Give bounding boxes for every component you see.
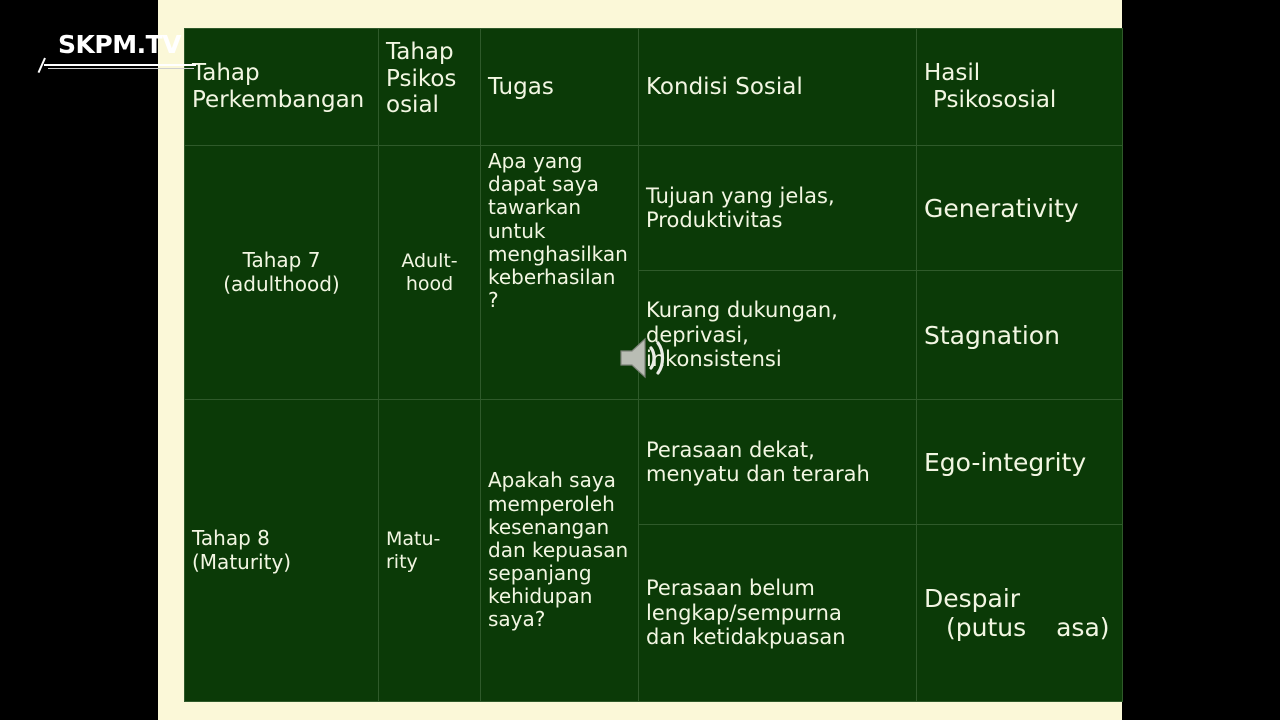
social-ego-integrity-line2: menyatu dan terarah <box>646 462 909 486</box>
social-generativity-line2: Produktivitas <box>646 208 909 232</box>
header-stage-line1: Tahap <box>192 60 371 87</box>
header-cell-result: Hasil Psikososial <box>917 29 1123 146</box>
cell-psychosocial-adulthood: Adult- hood <box>379 146 481 400</box>
social-generativity-line1: Tujuan yang jelas, <box>646 184 909 208</box>
cell-social-despair: Perasaan belum lengkap/sempurna dan keti… <box>639 525 917 702</box>
header-cell-task: Tugas <box>481 29 639 146</box>
result-despair-line2: (putus <box>924 613 1026 642</box>
table-row: Tahap 8 (Maturity) Matu- rity Apakah say… <box>185 400 1123 525</box>
watermark-slash-decor <box>38 58 46 73</box>
header-psychosocial-line2: Psikos <box>386 66 473 93</box>
result-despair-line1: Despair <box>924 584 1115 613</box>
cell-social-generativity: Tujuan yang jelas, Produktivitas <box>639 146 917 271</box>
header-cell-psychosocial: Tahap Psikos osial <box>379 29 481 146</box>
cell-social-stagnation: Kurang dukungan, deprivasi, inkonsistens… <box>639 271 917 400</box>
cell-result-generativity: Generativity <box>917 146 1123 271</box>
table-row: Tahap 7 (adulthood) Adult- hood Apa yang… <box>185 146 1123 271</box>
header-psychosocial-line3: osial <box>386 92 473 119</box>
speaker-icon[interactable] <box>618 334 672 382</box>
social-stagnation-line3: inkonsistensi <box>646 347 909 371</box>
header-result-line1: Hasil <box>924 60 1115 87</box>
cell-stage-8: Tahap 8 (Maturity) <box>185 400 379 702</box>
cell-result-despair: Despair (putus asa) <box>917 525 1123 702</box>
cell-psychosocial-maturity: Matu- rity <box>379 400 481 702</box>
slide-stage: SKPM.TV Tahap Perkembangan Tahap Psikos … <box>0 0 1280 720</box>
psychosocial-maturity-line2: rity <box>386 551 473 573</box>
cell-result-stagnation: Stagnation <box>917 271 1123 400</box>
stage-7-line1: Tahap 7 <box>192 249 371 272</box>
header-result-line2: Psikososial <box>924 87 1056 114</box>
social-stagnation-line2: deprivasi, <box>646 323 909 347</box>
cell-social-ego-integrity: Perasaan dekat, menyatu dan terarah <box>639 400 917 525</box>
header-cell-social-condition: Kondisi Sosial <box>639 29 917 146</box>
cell-task-7: Apa yang dapat saya tawarkan untuk mengh… <box>481 146 639 400</box>
stage-8-line1: Tahap 8 <box>192 527 371 550</box>
result-despair-line3: asa) <box>1034 613 1109 642</box>
social-despair-line2: lengkap/sempurna <box>646 601 909 625</box>
header-cell-stage: Tahap Perkembangan <box>185 29 379 146</box>
psychosocial-maturity-line1: Matu- <box>386 528 473 550</box>
cell-task-8: Apakah saya memperoleh kesenangan dan ke… <box>481 400 639 702</box>
psychosocial-adulthood-line1: Adult- <box>386 250 473 272</box>
cell-result-ego-integrity: Ego-integrity <box>917 400 1123 525</box>
cell-stage-7: Tahap 7 (adulthood) <box>185 146 379 400</box>
table-header-row: Tahap Perkembangan Tahap Psikos osial Tu… <box>185 29 1123 146</box>
social-stagnation-line1: Kurang dukungan, <box>646 298 909 322</box>
stage-8-line2: (Maturity) <box>192 551 371 574</box>
social-despair-line1: Perasaan belum <box>646 576 909 600</box>
header-stage-line2: Perkembangan <box>192 87 371 114</box>
stage-7-line2: (adulthood) <box>192 273 371 296</box>
social-ego-integrity-line1: Perasaan dekat, <box>646 438 909 462</box>
psychosocial-adulthood-line2: hood <box>386 273 473 295</box>
social-despair-line3: dan ketidakpuasan <box>646 625 909 649</box>
header-psychosocial-line1: Tahap <box>386 39 473 66</box>
